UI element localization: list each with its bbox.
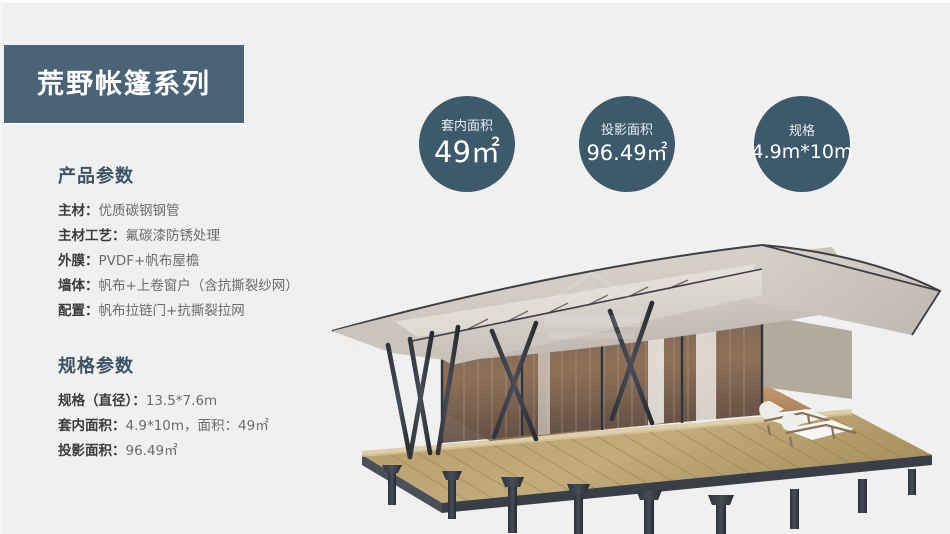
spec-row: 墙体：帆布+上卷窗户（含抗撕裂纱网） xyxy=(58,274,299,299)
spec-value: 优质碳钢钢管 xyxy=(99,203,180,219)
spec-value: 帆布+上卷窗户（含抗撕裂纱网） xyxy=(99,278,299,294)
spec-value: 13.5*7.6m xyxy=(146,393,217,409)
badge-projection-area: 投影面积 96.49㎡ xyxy=(579,96,675,192)
spec-row: 套内面积：4.9*10m，面积：49㎡ xyxy=(58,414,269,439)
product-params-block: 产品参数 主材：优质碳钢钢管 主材工艺：氟碳漆防锈处理 外膜：PVDF+帆布屋檐… xyxy=(58,166,299,324)
badge-value: 4.9m*10m xyxy=(752,142,853,164)
spec-row: 外膜：PVDF+帆布屋檐 xyxy=(58,249,299,274)
spec-row: 主材工艺：氟碳漆防锈处理 xyxy=(58,224,299,249)
spec-row: 规格（直径）：13.5*7.6m xyxy=(58,389,269,414)
spec-row: 主材：优质碳钢钢管 xyxy=(58,199,299,224)
spec-label: 外膜： xyxy=(58,253,99,269)
product-params-heading: 产品参数 xyxy=(58,166,299,188)
size-params-heading: 规格参数 xyxy=(58,356,269,378)
badge-interior-area: 套内面积 49㎡ xyxy=(419,96,515,192)
spec-value: 96.49㎡ xyxy=(126,443,178,459)
tent-render-image xyxy=(292,203,950,534)
spec-value: 氟碳漆防锈处理 xyxy=(126,228,221,244)
spec-row: 投影面积：96.49㎡ xyxy=(58,439,269,464)
spec-value: 帆布拉链门+抗撕裂拉网 xyxy=(99,303,245,319)
badge-label: 投影面积 xyxy=(601,123,653,139)
spec-value: PVDF+帆布屋檐 xyxy=(99,253,200,269)
badge-label: 套内面积 xyxy=(441,119,493,135)
badge-spec: 规格 4.9m*10m xyxy=(754,96,850,192)
spec-label: 投影面积： xyxy=(58,443,126,459)
title-banner: 荒野帐篷系列 xyxy=(4,45,244,123)
spec-row: 配置：帆布拉链门+抗撕裂拉网 xyxy=(58,299,299,324)
spec-label: 套内面积： xyxy=(58,418,126,434)
spec-label: 主材工艺： xyxy=(58,228,126,244)
spec-label: 墙体： xyxy=(58,278,99,294)
badge-label: 规格 xyxy=(789,124,815,140)
badge-value: 49㎡ xyxy=(434,136,500,169)
spec-label: 规格（直径）： xyxy=(58,393,146,409)
badge-value: 96.49㎡ xyxy=(586,141,667,165)
size-params-block: 规格参数 规格（直径）：13.5*7.6m 套内面积：4.9*10m，面积：49… xyxy=(58,356,269,464)
spec-label: 配置： xyxy=(58,303,99,319)
spec-label: 主材： xyxy=(58,203,99,219)
spec-value: 4.9*10m，面积：49㎡ xyxy=(126,418,269,434)
page-title: 荒野帐篷系列 xyxy=(37,71,211,98)
slide-canvas: 荒野帐篷系列 产品参数 主材：优质碳钢钢管 主材工艺：氟碳漆防锈处理 外膜：PV… xyxy=(0,0,950,534)
